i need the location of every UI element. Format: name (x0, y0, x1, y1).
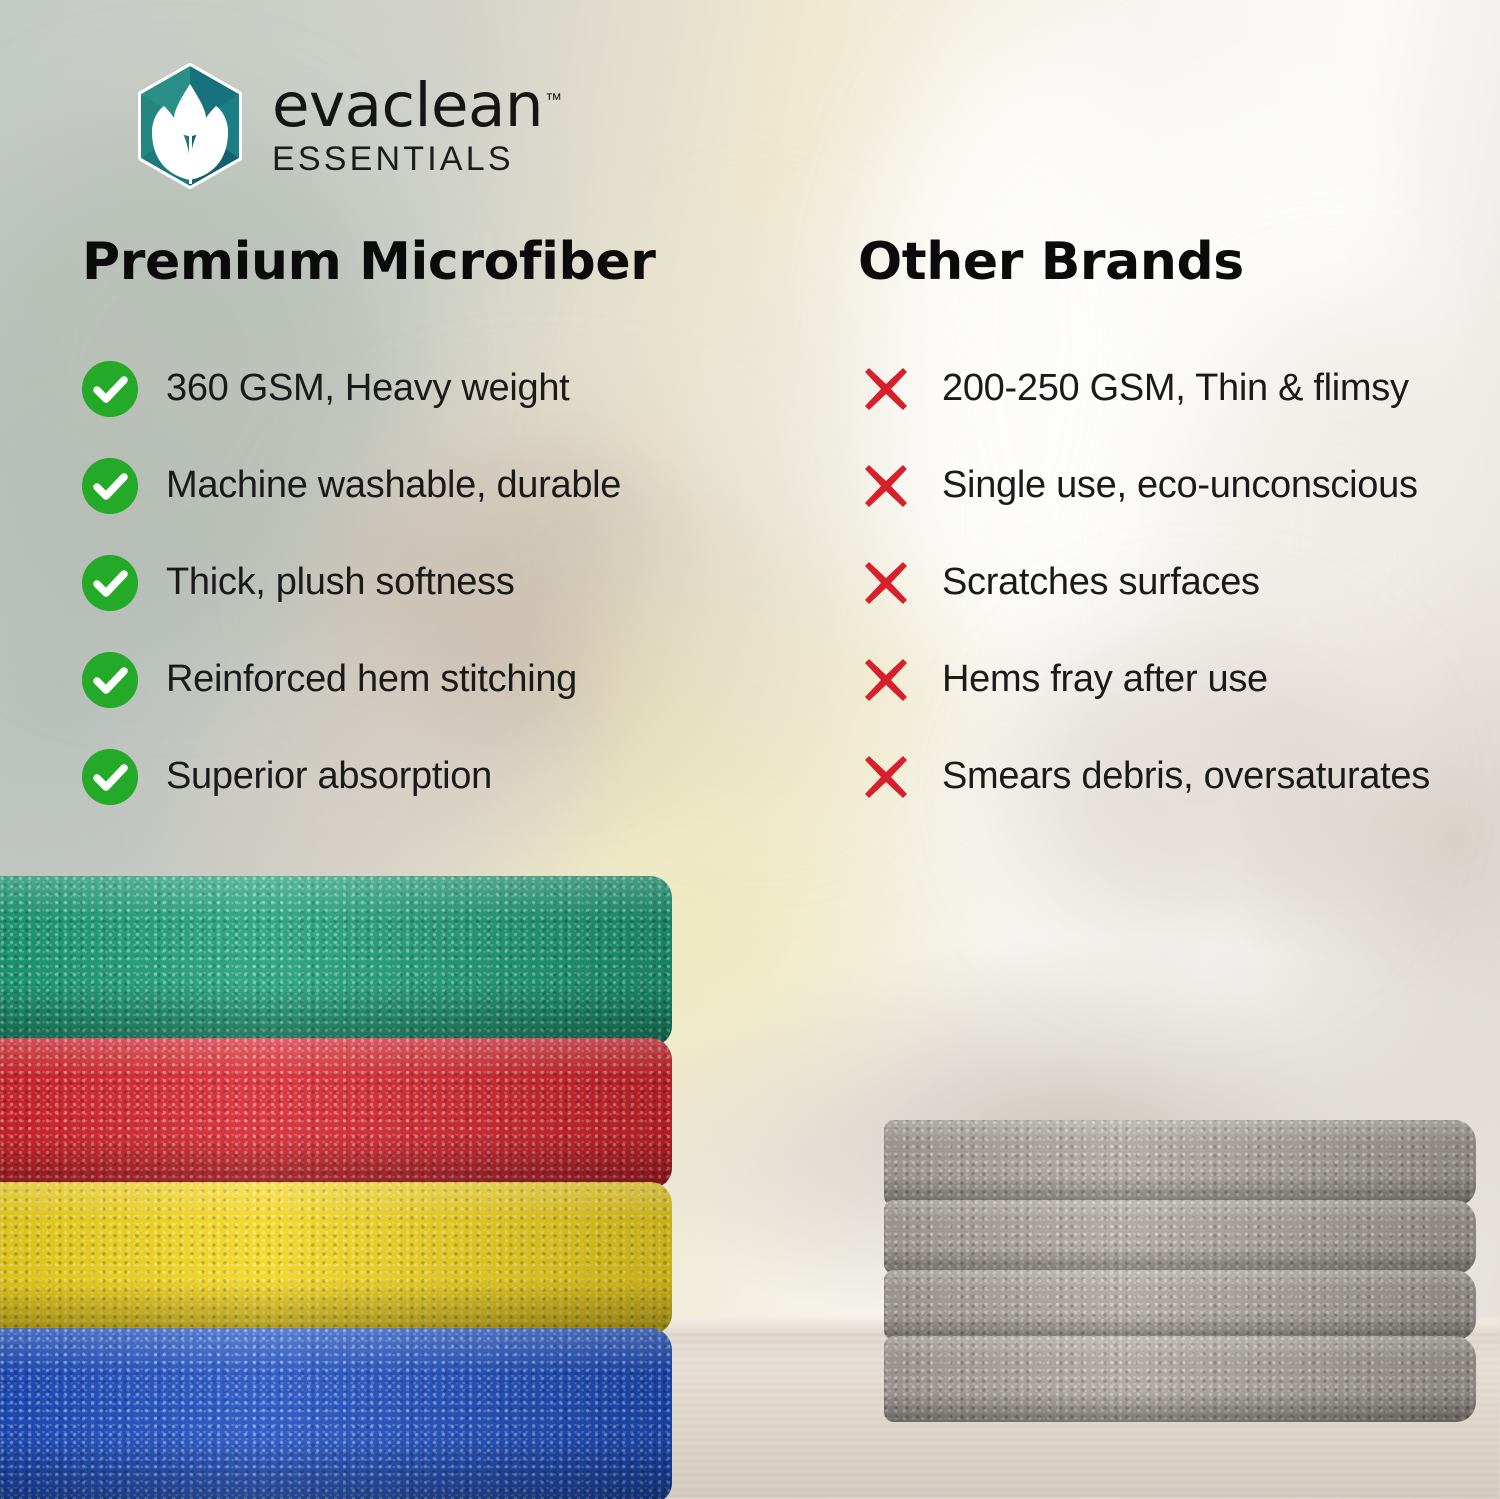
drawback-label: Scratches surfaces (942, 562, 1260, 604)
drawback-label: Hems fray after use (942, 659, 1268, 701)
feature-label: Thick, plush softness (166, 562, 515, 604)
brand-subtitle: ESSENTIALS (272, 140, 562, 179)
x-mark-icon (858, 458, 942, 514)
column-title-premium: Premium Microfiber (82, 232, 782, 292)
drawback-label: Single use, eco-unconscious (942, 465, 1418, 507)
other-brands-column: Other Brands 200-250 GSM, Thin & flimsy … (858, 232, 1478, 825)
drawback-label: 200-250 GSM, Thin & flimsy (942, 368, 1409, 410)
towel-gray (884, 1336, 1476, 1422)
towel-red (0, 1038, 672, 1188)
drawback-label: Smears debris, oversaturates (942, 756, 1430, 798)
brand-logo: evaclean™ ESSENTIALS (126, 62, 562, 190)
feature-label: Superior absorption (166, 756, 492, 798)
check-circle-icon (82, 361, 166, 417)
towel-blue (0, 1328, 672, 1499)
other-brand-towel-stack (884, 1120, 1484, 1410)
feature-row: 360 GSM, Heavy weight (82, 340, 782, 437)
feature-row: Reinforced hem stitching (82, 631, 782, 728)
check-circle-icon (82, 749, 166, 805)
feature-label: Machine washable, durable (166, 465, 621, 507)
trademark-symbol: ™ (545, 90, 562, 109)
feature-row: Thick, plush softness (82, 534, 782, 631)
x-mark-icon (858, 749, 942, 805)
towel-green (0, 876, 672, 1046)
feature-row: Superior absorption (82, 728, 782, 825)
check-circle-icon (82, 458, 166, 514)
brand-name-text: evaclean (272, 70, 543, 141)
drawback-row: Scratches surfaces (858, 534, 1478, 631)
check-circle-icon (82, 652, 166, 708)
hexagon-droplet-leaves-logo-icon (126, 62, 254, 190)
x-mark-icon (858, 361, 942, 417)
towel-gray (884, 1120, 1476, 1206)
brand-name: evaclean™ (272, 77, 562, 136)
brand-wordmark: evaclean™ ESSENTIALS (272, 73, 562, 179)
column-title-other: Other Brands (858, 232, 1478, 292)
drawback-row: 200-250 GSM, Thin & flimsy (858, 340, 1478, 437)
premium-microfiber-towel-stack (0, 876, 682, 1491)
drawback-row: Hems fray after use (858, 631, 1478, 728)
towel-gray (884, 1270, 1476, 1340)
premium-microfiber-column: Premium Microfiber 360 GSM, Heavy weight… (82, 232, 782, 825)
x-mark-icon (858, 652, 942, 708)
x-mark-icon (858, 555, 942, 611)
drawback-row: Smears debris, oversaturates (858, 728, 1478, 825)
feature-label: Reinforced hem stitching (166, 659, 577, 701)
drawback-row: Single use, eco-unconscious (858, 437, 1478, 534)
feature-label: 360 GSM, Heavy weight (166, 368, 569, 410)
feature-row: Machine washable, durable (82, 437, 782, 534)
towel-gray (884, 1200, 1476, 1274)
check-circle-icon (82, 555, 166, 611)
towel-yellow (0, 1182, 672, 1334)
